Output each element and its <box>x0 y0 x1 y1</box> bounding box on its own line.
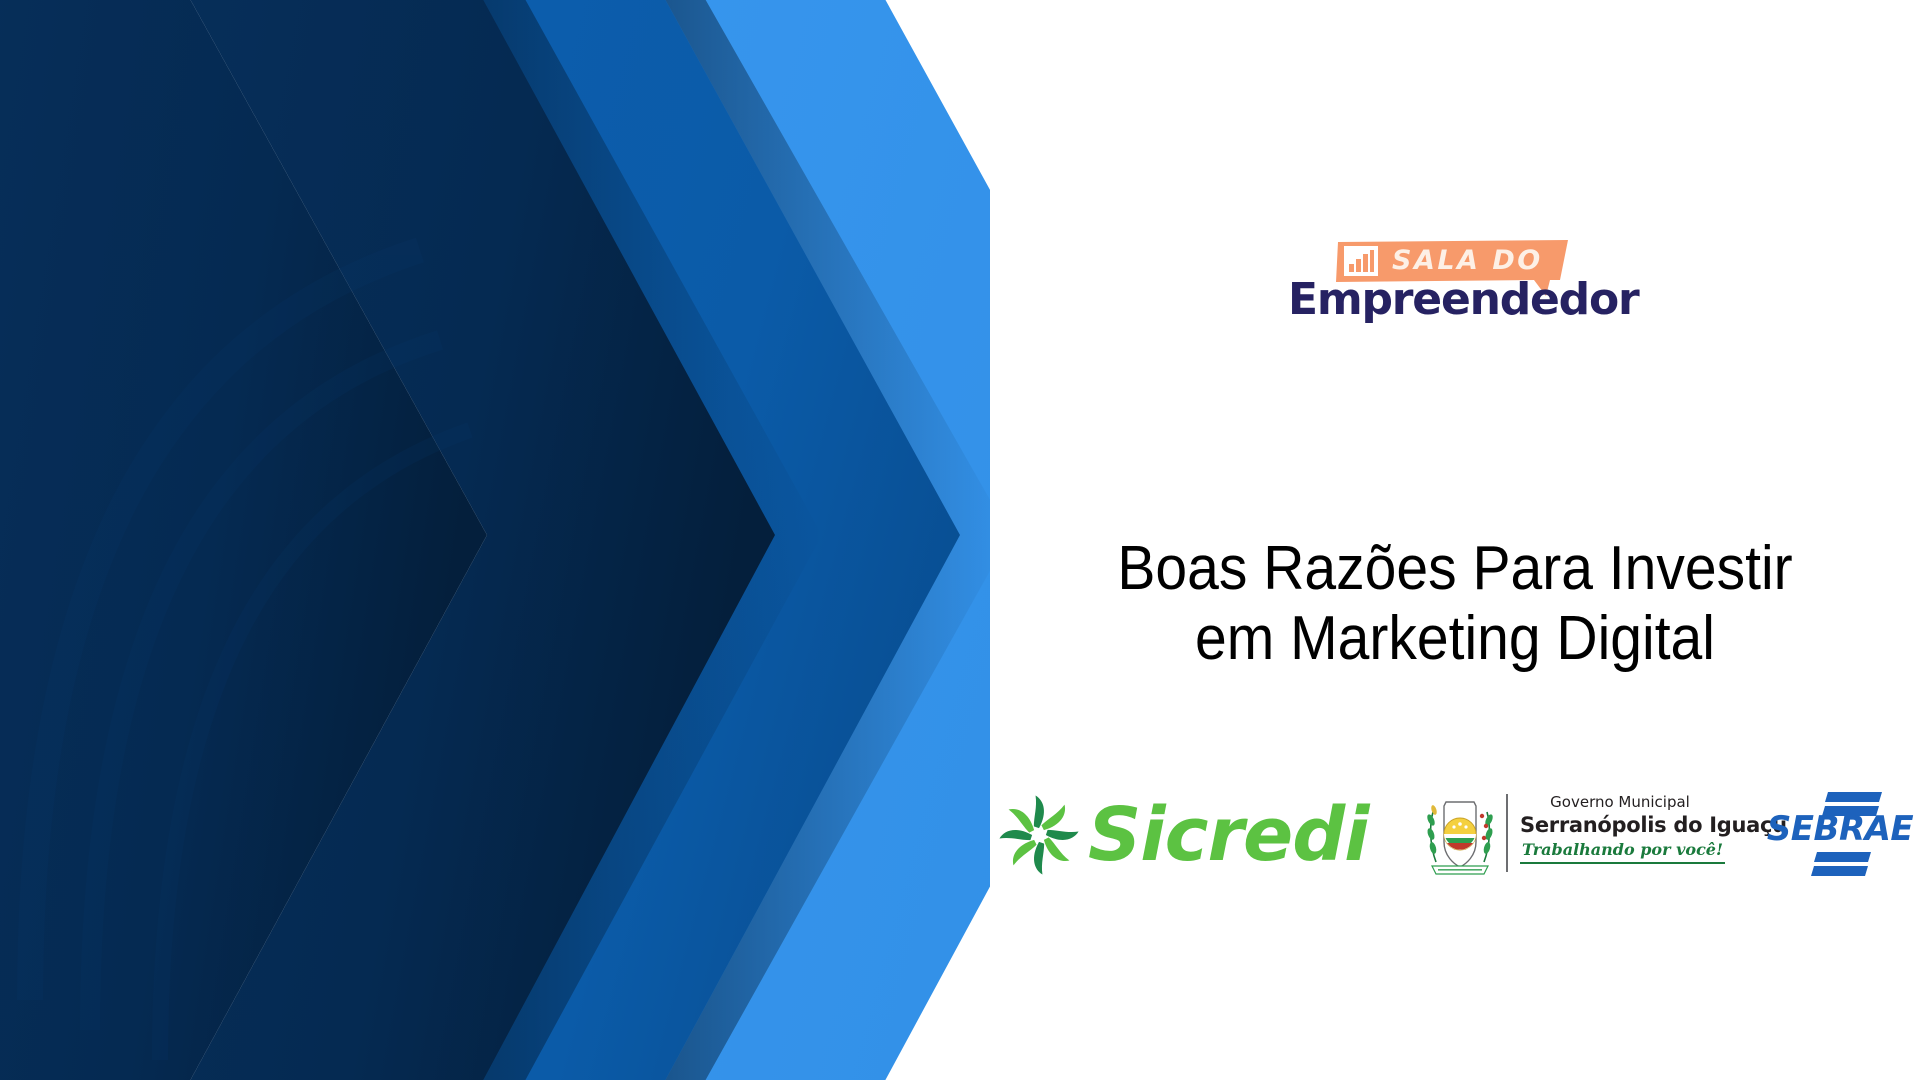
gov-logo-divider <box>1506 794 1508 872</box>
empreendedor-wordmark: Empreendedor <box>1288 274 1648 326</box>
chevron-background-artwork <box>0 0 990 1080</box>
sala-do-empreendedor-logo: SALA DO Empreendedor <box>1288 216 1648 364</box>
sicredi-wordmark: Sicredi <box>1088 792 1369 878</box>
partner-logo-row: Sicredi <box>990 778 1910 890</box>
gov-line-slogan: Trabalhando por você! <box>1520 838 1725 864</box>
presentation-slide: SALA DO Empreendedor Boas Razões Para In… <box>0 0 1920 1080</box>
pinwheel-icon <box>996 792 1082 878</box>
governo-municipal-logo: Governo Municipal Serranópolis do Iguaçu… <box>1424 778 1724 890</box>
sicredi-logo: Sicredi <box>990 778 1380 890</box>
slide-title-line-2: em Marketing Digital <box>1055 604 1855 674</box>
gov-line-governo-municipal: Governo Municipal <box>1520 792 1720 812</box>
sala-do-text: SALA DO <box>1392 244 1552 278</box>
sebrae-logo: SEBRAE <box>1760 778 1920 890</box>
svg-text:SEBRAE: SEBRAE <box>1767 809 1914 849</box>
gov-line-city-name: Serranópolis do Iguaçu <box>1520 812 1720 838</box>
slide-title-line-1: Boas Razões Para Investir <box>1055 534 1855 604</box>
bar-chart-icon <box>1344 246 1378 276</box>
coat-of-arms-icon <box>1424 790 1496 878</box>
slide-title: Boas Razões Para Investir em Marketing D… <box>1020 534 1890 674</box>
